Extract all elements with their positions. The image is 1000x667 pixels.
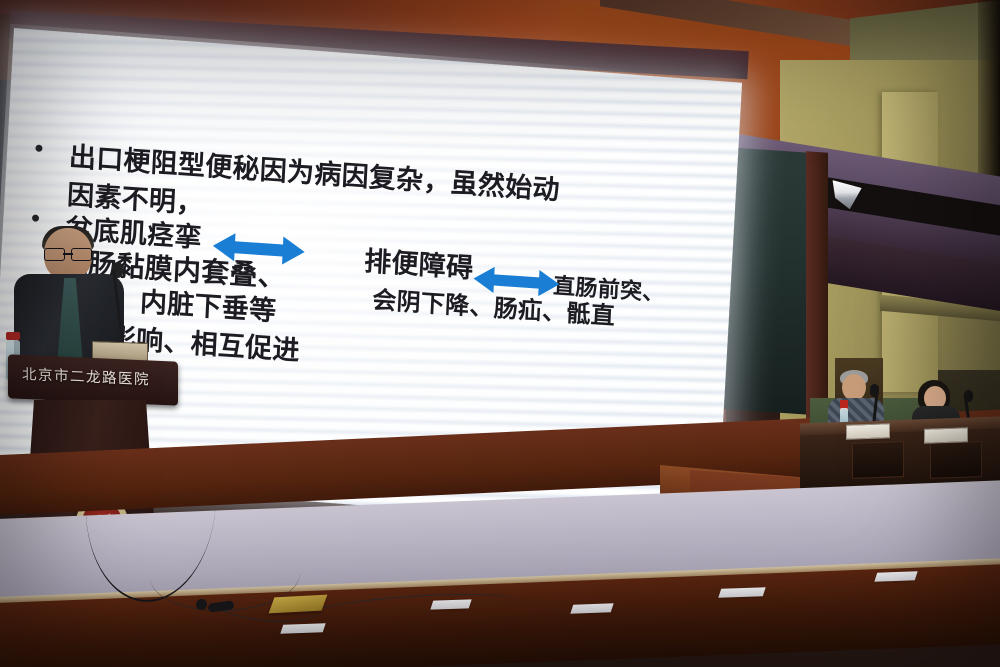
table-microphone-right-head <box>964 390 973 402</box>
podium-top: 北京市二龙路医院 <box>8 354 178 405</box>
venue-banner-text: 北京市二龙路医院 <box>22 363 167 390</box>
paper-sheet-mid <box>430 599 471 609</box>
paper-sheet-right <box>570 603 613 613</box>
double-arrow-right-icon <box>473 263 560 301</box>
ceiling-spotlight-icon <box>828 180 862 210</box>
bottle-cap <box>6 332 20 340</box>
lecture-hall-photo: 出口梗阻型便秘因为病因复杂，虽然始动 因素不明， 盆底肌痉挛 排便障碍 直肠前突… <box>0 0 1000 667</box>
glasses-icon <box>44 248 92 259</box>
paper-sheet-far-right <box>718 587 765 598</box>
nameplate-left <box>846 423 890 440</box>
nameplate-right <box>924 427 968 444</box>
cable-connector-round <box>196 599 207 610</box>
gold-equipment-box <box>269 595 328 614</box>
table-microphone-left-head <box>870 384 879 397</box>
panel-table-inset <box>930 441 982 479</box>
double-arrow-left-icon <box>212 229 305 269</box>
paper-sheet-far-right-2 <box>874 571 917 581</box>
panelist-left-head <box>842 374 866 401</box>
panel-table-area <box>800 368 1000 498</box>
slide-line-3b: 排便障碍 <box>363 239 474 285</box>
paper-sheet-left <box>280 623 325 633</box>
panel-table-inset <box>852 441 904 479</box>
